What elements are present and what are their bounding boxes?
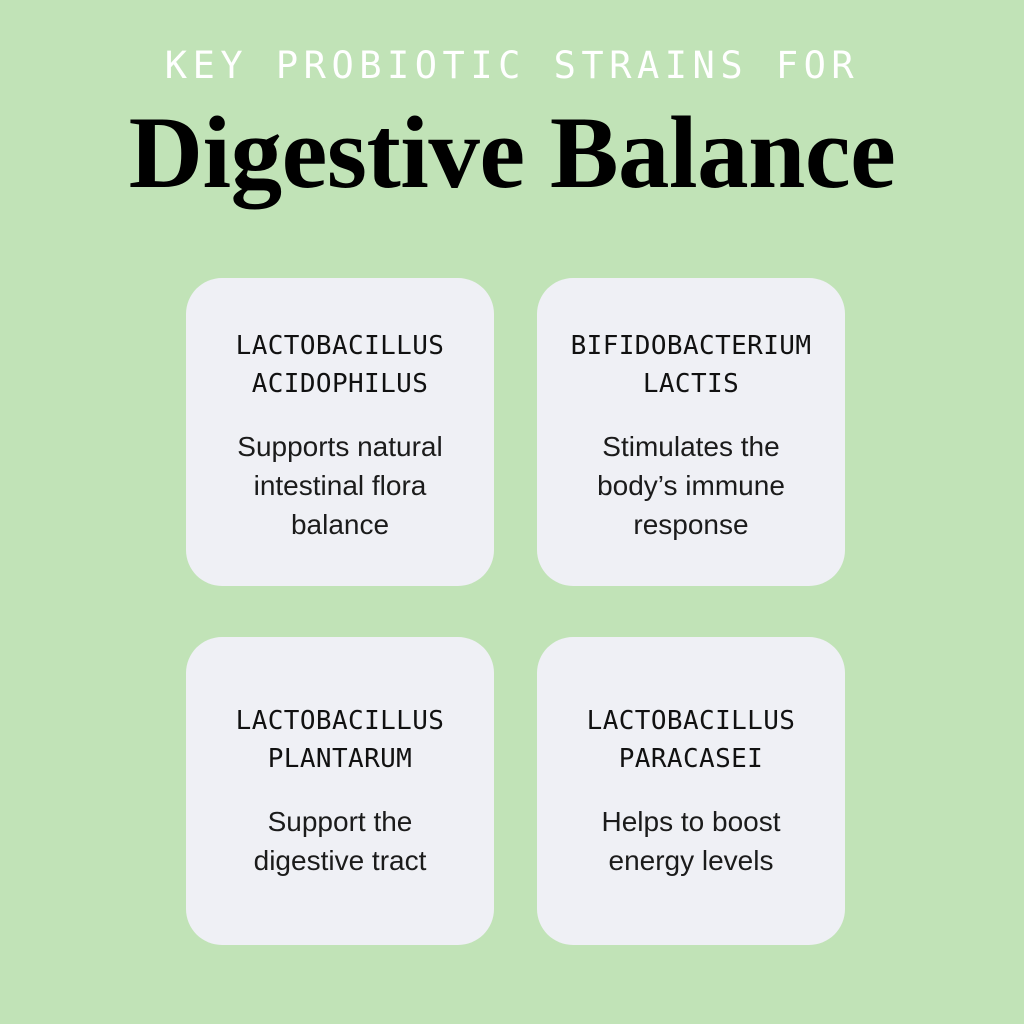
strain-card-description: Supports natural intestinal flora balanc…	[237, 427, 442, 544]
poster-canvas: KEY PROBIOTIC STRAINS FOR Digestive Bala…	[0, 0, 1024, 1024]
strain-card-lactobacillus-paracasei: LACTOBACILLUS PARACASEI Helps to boost e…	[537, 637, 845, 945]
strain-card-description: Helps to boost energy levels	[602, 802, 781, 880]
eyebrow-text: KEY PROBIOTIC STRAINS FOR	[0, 46, 1024, 86]
poster-header: KEY PROBIOTIC STRAINS FOR Digestive Bala…	[0, 0, 1024, 205]
strain-card-bifidobacterium-lactis: BIFIDOBACTERIUM LACTIS Stimulates the bo…	[537, 278, 845, 586]
strain-card-description: Support the digestive tract	[254, 802, 427, 880]
strain-card-title: BIFIDOBACTERIUM LACTIS	[571, 327, 812, 403]
strain-card-title: LACTOBACILLUS PARACASEI	[587, 702, 796, 778]
strain-card-lactobacillus-plantarum: LACTOBACILLUS PLANTARUM Support the dige…	[186, 637, 494, 945]
page-title: Digestive Balance	[0, 102, 1024, 205]
strain-card-title: LACTOBACILLUS ACIDOPHILUS	[236, 327, 445, 403]
strain-card-grid: LACTOBACILLUS ACIDOPHILUS Supports natur…	[186, 278, 845, 945]
strain-card-lactobacillus-acidophilus: LACTOBACILLUS ACIDOPHILUS Supports natur…	[186, 278, 494, 586]
strain-card-description: Stimulates the body’s immune response	[597, 427, 785, 544]
strain-card-title: LACTOBACILLUS PLANTARUM	[236, 702, 445, 778]
